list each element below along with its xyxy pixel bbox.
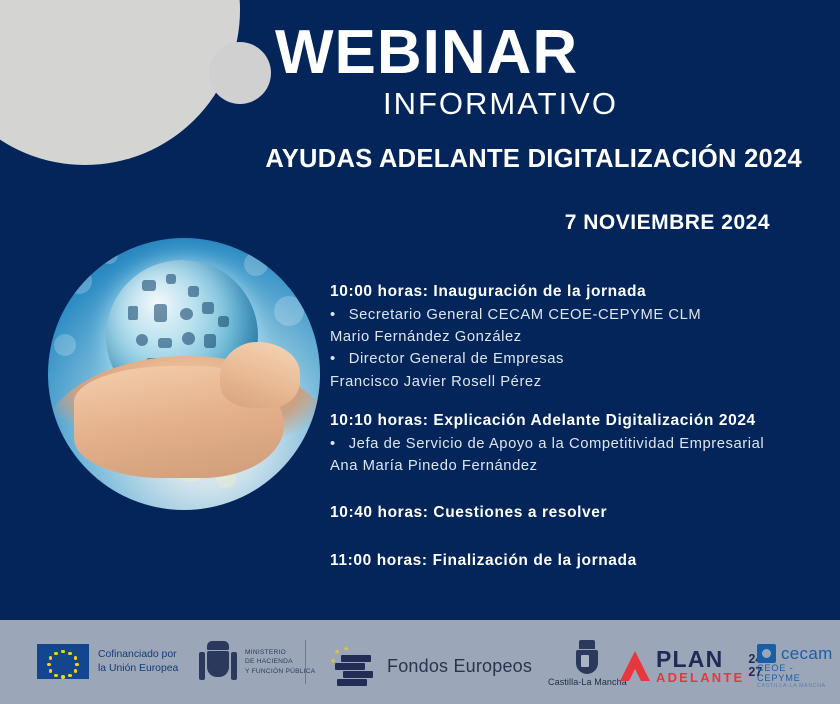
hand-holding-digital-globe-photo (48, 238, 320, 510)
speaker-name: Francisco Javier Rosell Pérez (330, 371, 830, 393)
agenda-speaker: •Secretario General CECAM CEOE-CEPYME CL… (330, 304, 830, 326)
event-date: 7 NOVIEMBRE 2024 (565, 212, 770, 233)
agenda-time-heading: 10:00 horas: Inauguración de la jornada (330, 280, 830, 304)
plan-adelante-triangle-icon (620, 651, 650, 681)
decorative-circle-small (209, 42, 271, 104)
castilla-la-mancha-shield-icon (573, 640, 601, 674)
agenda-list: 10:00 horas: Inauguración de la jornada … (330, 280, 830, 583)
page-subtitle: INFORMATIVO (383, 88, 618, 119)
plan-adelante-sub: ADELANTE (656, 671, 744, 684)
agenda-time-heading: 10:10 horas: Explicación Adelante Digita… (330, 409, 830, 433)
logo-cecam: cecam CEOE - CEPYME CASTILLA-LA MANCHA (757, 644, 840, 689)
speaker-name: Mario Fernández González (330, 326, 830, 348)
logo-ministry: MINISTERIO DE HACIENDA Y FUNCIÓN PÚBLICA (198, 640, 315, 684)
eu-logo-text: Cofinanciado por la Unión Europea (98, 648, 178, 675)
agenda-item: 10:00 horas: Inauguración de la jornada … (330, 280, 830, 393)
agenda-speaker: •Jefa de Servicio de Apoyo a la Competit… (330, 433, 830, 455)
webinar-poster: WEBINAR INFORMATIVO AYUDAS ADELANTE DIGI… (0, 0, 840, 704)
agenda-time-heading: 11:00 horas: Finalización de la jornada (330, 549, 830, 573)
eu-text-line1: Cofinanciado por (98, 648, 178, 661)
bullet-icon: • (330, 433, 336, 455)
cecam-line2: CEOE - CEPYME (757, 663, 840, 684)
logo-plan-adelante: PLAN ADELANTE 24 27 (620, 648, 762, 684)
hand-fingers-shape (220, 342, 300, 408)
agenda-time-heading: 10:40 horas: Cuestiones a resolver (330, 501, 830, 525)
footer-divider (305, 640, 306, 684)
bullet-icon: • (330, 348, 336, 370)
logo-fondos-europeos: ★ ★ ★ Fondos Europeos (327, 646, 532, 686)
eu-text-line2: la Unión Europea (98, 662, 178, 675)
fondos-europeos-label: Fondos Europeos (387, 656, 532, 677)
plan-adelante-wordmark: PLAN ADELANTE (656, 648, 744, 684)
agenda-item: 10:10 horas: Explicación Adelante Digita… (330, 409, 830, 477)
decorative-circle-large (0, 0, 240, 165)
cecam-name: cecam (781, 645, 833, 662)
cecam-wordmark: cecam CEOE - CEPYME CASTILLA-LA MANCHA (757, 644, 840, 689)
logo-castilla-la-mancha: Castilla-La Mancha (548, 640, 627, 687)
agenda-item: 11:00 horas: Finalización de la jornada (330, 549, 830, 573)
eu-flag-icon (37, 644, 89, 679)
agenda-item: 10:40 horas: Cuestiones a resolver (330, 501, 830, 525)
fondos-europeos-icon: ★ ★ ★ (327, 646, 377, 686)
speaker-role: Director General de Empresas (341, 351, 564, 367)
logo-european-union: Cofinanciado por la Unión Europea (37, 644, 178, 679)
cecam-mark-icon (757, 644, 776, 663)
speaker-name: Ana María Pinedo Fernández (330, 455, 830, 477)
castilla-la-mancha-label: Castilla-La Mancha (548, 677, 627, 687)
speaker-role: Secretario General CECAM CEOE-CEPYME CLM (341, 307, 702, 323)
footer-logos-band: Cofinanciado por la Unión Europea MINIST… (0, 620, 840, 704)
cecam-line3: CASTILLA-LA MANCHA (757, 684, 840, 690)
bullet-icon: • (330, 304, 336, 326)
spanish-coat-of-arms-icon (198, 640, 238, 684)
program-title: AYUDAS ADELANTE DIGITALIZACIÓN 2024 (265, 147, 802, 173)
page-title: WEBINAR (275, 22, 578, 84)
plan-adelante-main: PLAN (656, 648, 744, 671)
speaker-role: Jefa de Servicio de Apoyo a la Competiti… (341, 436, 764, 452)
agenda-speaker: •Director General de Empresas (330, 348, 830, 370)
